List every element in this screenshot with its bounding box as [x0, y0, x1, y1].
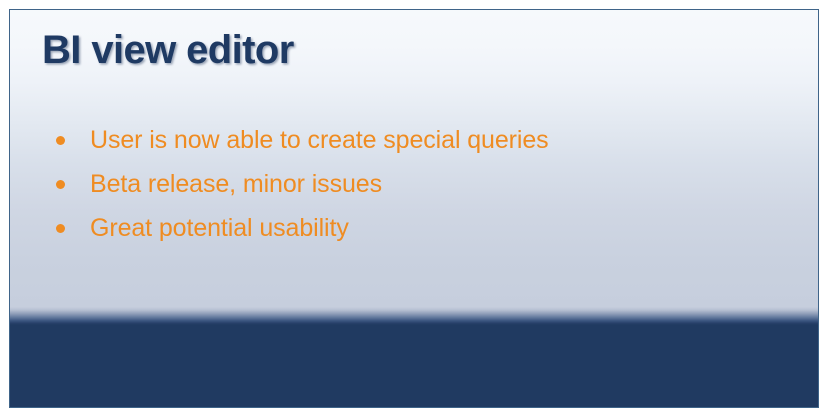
list-item: Great potential usability: [46, 206, 778, 250]
slide-title: BI view editor: [42, 27, 294, 73]
footer-band: [10, 325, 818, 407]
gradient-blend-band: [10, 307, 818, 325]
bullet-dot-icon: [56, 180, 65, 189]
bullet-list: User is now able to create special queri…: [46, 118, 778, 250]
list-item-label: Great potential usability: [90, 216, 349, 241]
slide-canvas: BI view editor User is now able to creat…: [0, 0, 828, 417]
list-item: Beta release, minor issues: [46, 162, 778, 206]
list-item: User is now able to create special queri…: [46, 118, 778, 162]
bullet-dot-icon: [56, 224, 65, 233]
list-item-label: Beta release, minor issues: [90, 172, 382, 197]
list-item-label: User is now able to create special queri…: [90, 128, 549, 153]
bullet-dot-icon: [56, 136, 65, 145]
slide-frame: BI view editor User is now able to creat…: [9, 9, 819, 408]
